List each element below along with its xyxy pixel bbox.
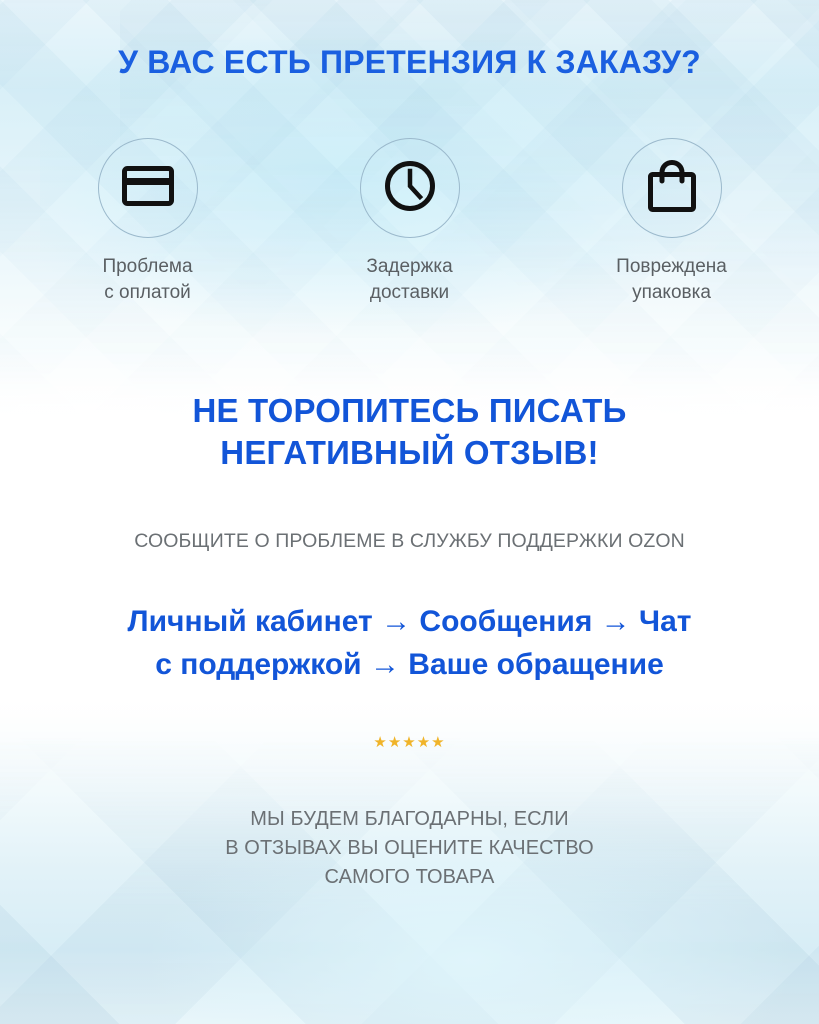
- poster-root: У ВАС ЕСТЬ ПРЕТЕНЗИЯ К ЗАКАЗУ? Проблема …: [0, 0, 819, 1024]
- icon-circle-payment: [98, 138, 198, 238]
- icon-circle-delay: [360, 138, 460, 238]
- problem-item-payment: Проблема с оплатой: [73, 138, 223, 306]
- shopping-bag-icon: [647, 159, 697, 218]
- star-rating-glyphs: ★★★★★: [373, 734, 445, 751]
- subtitle-support: СООБЩИТЕ О ПРОБЛЕМЕ В СЛУЖБУ ПОДДЕРЖКИ O…: [0, 530, 819, 553]
- problem-item-label: Задержка доставки: [366, 254, 452, 306]
- problem-item-label: Повреждена упаковка: [616, 254, 727, 306]
- icon-circle-package: [622, 138, 722, 238]
- problem-icons-row: Проблема с оплатой Задержка доставки: [0, 138, 819, 306]
- star-rating: ★★★★★: [0, 735, 819, 750]
- poster-content: У ВАС ЕСТЬ ПРЕТЕНЗИЯ К ЗАКАЗУ? Проблема …: [0, 0, 819, 1024]
- footer-note: МЫ БУДЕМ БЛАГОДАРНЫ, ЕСЛИ В ОТЗЫВАХ ВЫ О…: [0, 805, 819, 892]
- navigation-path-text: Личный кабинет → Сообщения → Чат с подде…: [0, 601, 819, 686]
- problem-item-package: Повреждена упаковка: [597, 138, 747, 306]
- credit-card-icon: [121, 165, 175, 212]
- main-headline: НЕ ТОРОПИТЕСЬ ПИСАТЬ НЕГАТИВНЫЙ ОТЗЫВ!: [0, 390, 819, 474]
- problem-item-delay: Задержка доставки: [335, 138, 485, 306]
- page-title: У ВАС ЕСТЬ ПРЕТЕНЗИЯ К ЗАКАЗУ?: [0, 44, 819, 81]
- clock-icon: [384, 160, 436, 217]
- problem-item-label: Проблема с оплатой: [102, 254, 192, 306]
